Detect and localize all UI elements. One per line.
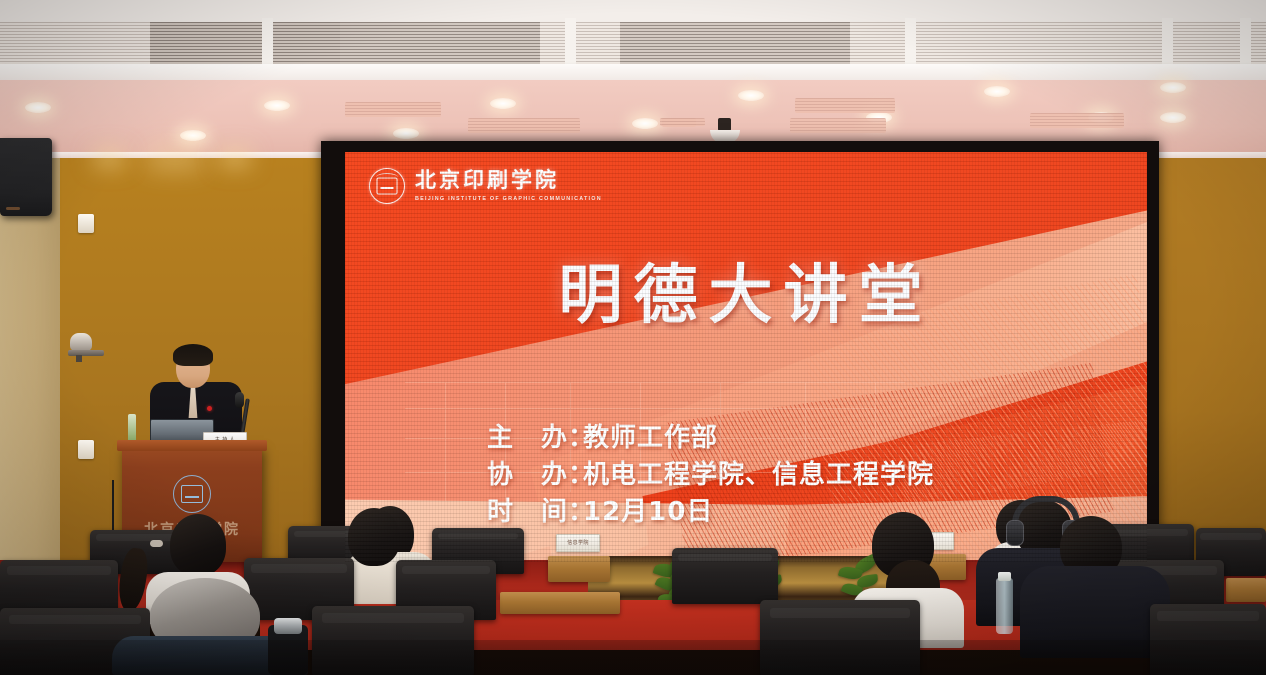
ceiling-vent-post bbox=[565, 18, 576, 70]
audience-chair bbox=[1150, 604, 1266, 675]
desk-placard: 信息学院 bbox=[556, 534, 600, 552]
info-label: 协 办： bbox=[487, 457, 583, 494]
ceiling-downlight bbox=[490, 98, 516, 109]
info-value: 教师工作部 bbox=[583, 423, 718, 453]
info-line-date: 时 间：12月10日 bbox=[487, 494, 934, 531]
ceiling-downlight bbox=[393, 128, 419, 139]
ceiling-downlight bbox=[984, 86, 1010, 97]
ceiling-vent-post bbox=[1240, 18, 1251, 70]
audience-desk bbox=[548, 556, 610, 582]
podium-top-surface bbox=[117, 440, 267, 451]
ceiling-downlight bbox=[264, 100, 290, 111]
screen-info-block: 主 办：教师工作部 协 办：机电工程学院、信息工程学院 时 间：12月10日 bbox=[487, 420, 934, 531]
ceiling-downlight bbox=[738, 90, 764, 101]
wall-side-panel-left bbox=[0, 158, 60, 578]
audience-head bbox=[170, 514, 226, 576]
microphone-icon bbox=[235, 392, 244, 408]
audience-torso bbox=[1020, 566, 1170, 658]
ceiling-downlight bbox=[1160, 82, 1186, 93]
ceiling-grille bbox=[662, 118, 696, 127]
ceiling-vent-post bbox=[1162, 18, 1173, 70]
info-value: 机电工程学院、信息工程学院 bbox=[583, 460, 934, 490]
info-line-coorganizer: 协 办：机电工程学院、信息工程学院 bbox=[487, 457, 934, 494]
ceiling-vent-post bbox=[262, 18, 273, 70]
audience-desk bbox=[500, 592, 620, 614]
university-crest-icon bbox=[369, 168, 405, 204]
presenter-lapel-pin bbox=[207, 406, 212, 411]
presenter-hair bbox=[173, 344, 213, 366]
thermos-cap bbox=[274, 618, 302, 634]
wall-panel-right bbox=[1154, 158, 1266, 578]
audience-chair bbox=[312, 606, 474, 675]
screen-main-title: 明德大讲堂 bbox=[345, 244, 1147, 336]
ceiling-diffuser bbox=[795, 98, 895, 113]
headphone-cup-icon bbox=[1006, 520, 1024, 546]
ceiling-air-vent bbox=[300, 22, 540, 68]
ceiling-diffuser bbox=[468, 118, 580, 133]
wall-outlet bbox=[78, 214, 94, 233]
info-label: 时 间： bbox=[487, 494, 583, 531]
water-bottle bbox=[996, 578, 1013, 634]
ceiling-vent-post bbox=[905, 18, 916, 70]
ceiling-downlight bbox=[25, 102, 51, 113]
university-name-cn: 北京印刷学院 bbox=[415, 170, 602, 192]
ceiling-downlight bbox=[632, 118, 658, 129]
ceiling-diffuser bbox=[1030, 113, 1124, 128]
ceiling-soffit bbox=[0, 0, 1266, 22]
ceiling-downlight bbox=[180, 130, 206, 141]
ceiling-diffuser bbox=[790, 118, 886, 133]
camera-mount-arm bbox=[68, 350, 104, 356]
screen-logo: 北京印刷学院 BEIJING INSTITUTE OF GRAPHIC COMM… bbox=[369, 168, 602, 204]
university-emblem-icon bbox=[173, 475, 211, 513]
audience-chair bbox=[760, 600, 920, 675]
lecture-hall-photo: 北京印刷学院 BEIJING INSTITUTE OF GRAPHIC COMM… bbox=[0, 0, 1266, 675]
audience-desk bbox=[1226, 578, 1266, 602]
audience-head bbox=[348, 508, 400, 566]
ceiling-air-vent bbox=[620, 22, 850, 68]
info-line-organizer: 主 办：教师工作部 bbox=[487, 420, 934, 457]
audience-chair bbox=[672, 548, 778, 604]
info-label: 主 办： bbox=[487, 420, 583, 457]
camera-mount-stem bbox=[76, 355, 82, 362]
info-value: 12月10日 bbox=[583, 497, 713, 527]
ceiling-downlight bbox=[1160, 112, 1186, 123]
audience-hairtie bbox=[150, 540, 163, 547]
university-name-en: BEIJING INSTITUTE OF GRAPHIC COMMUNICATI… bbox=[415, 196, 602, 202]
wall-speaker-icon bbox=[0, 138, 52, 216]
camera-body bbox=[70, 333, 92, 351]
ceiling-diffuser bbox=[345, 102, 441, 117]
water-bottle-cap bbox=[998, 572, 1011, 581]
wall-outlet bbox=[78, 440, 94, 459]
wall-camera-icon bbox=[68, 333, 104, 361]
